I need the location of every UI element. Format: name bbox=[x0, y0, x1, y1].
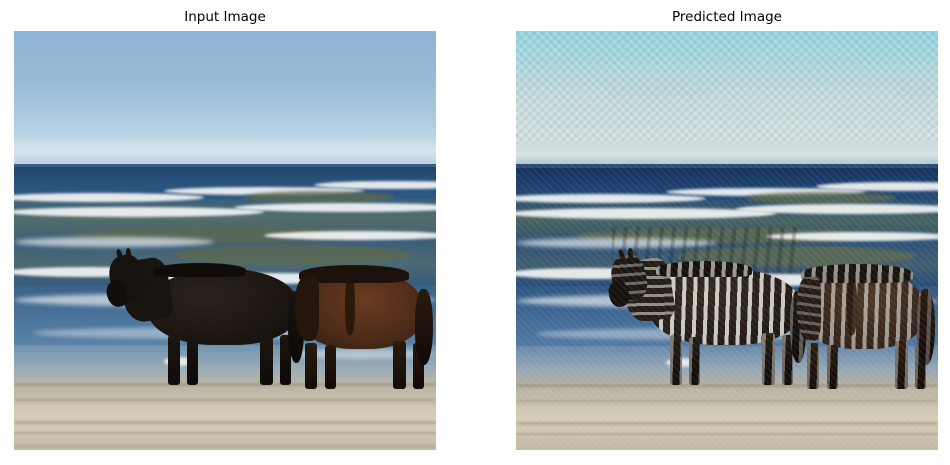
input-foam-crest bbox=[14, 207, 264, 217]
input-dry-sand-band bbox=[14, 405, 436, 450]
figure-canvas: Input Image bbox=[0, 0, 950, 465]
input-sky-band bbox=[14, 31, 436, 143]
input-sand-track bbox=[14, 445, 436, 448]
input-image-title: Input Image bbox=[14, 9, 436, 25]
predicted-global-texture bbox=[516, 31, 938, 450]
predicted-image-title: Predicted Image bbox=[516, 9, 938, 25]
predicted-image-axes bbox=[516, 31, 938, 450]
input-sand-track bbox=[14, 421, 436, 424]
input-haze-band bbox=[14, 139, 436, 165]
input-sand-track bbox=[14, 399, 436, 401]
horse-brown bbox=[289, 259, 436, 387]
input-sand-track bbox=[14, 432, 436, 434]
input-foam-wash bbox=[14, 237, 214, 247]
input-wave-shadow bbox=[244, 191, 394, 203]
input-image-axes bbox=[14, 31, 436, 450]
horse-dark bbox=[110, 253, 310, 387]
